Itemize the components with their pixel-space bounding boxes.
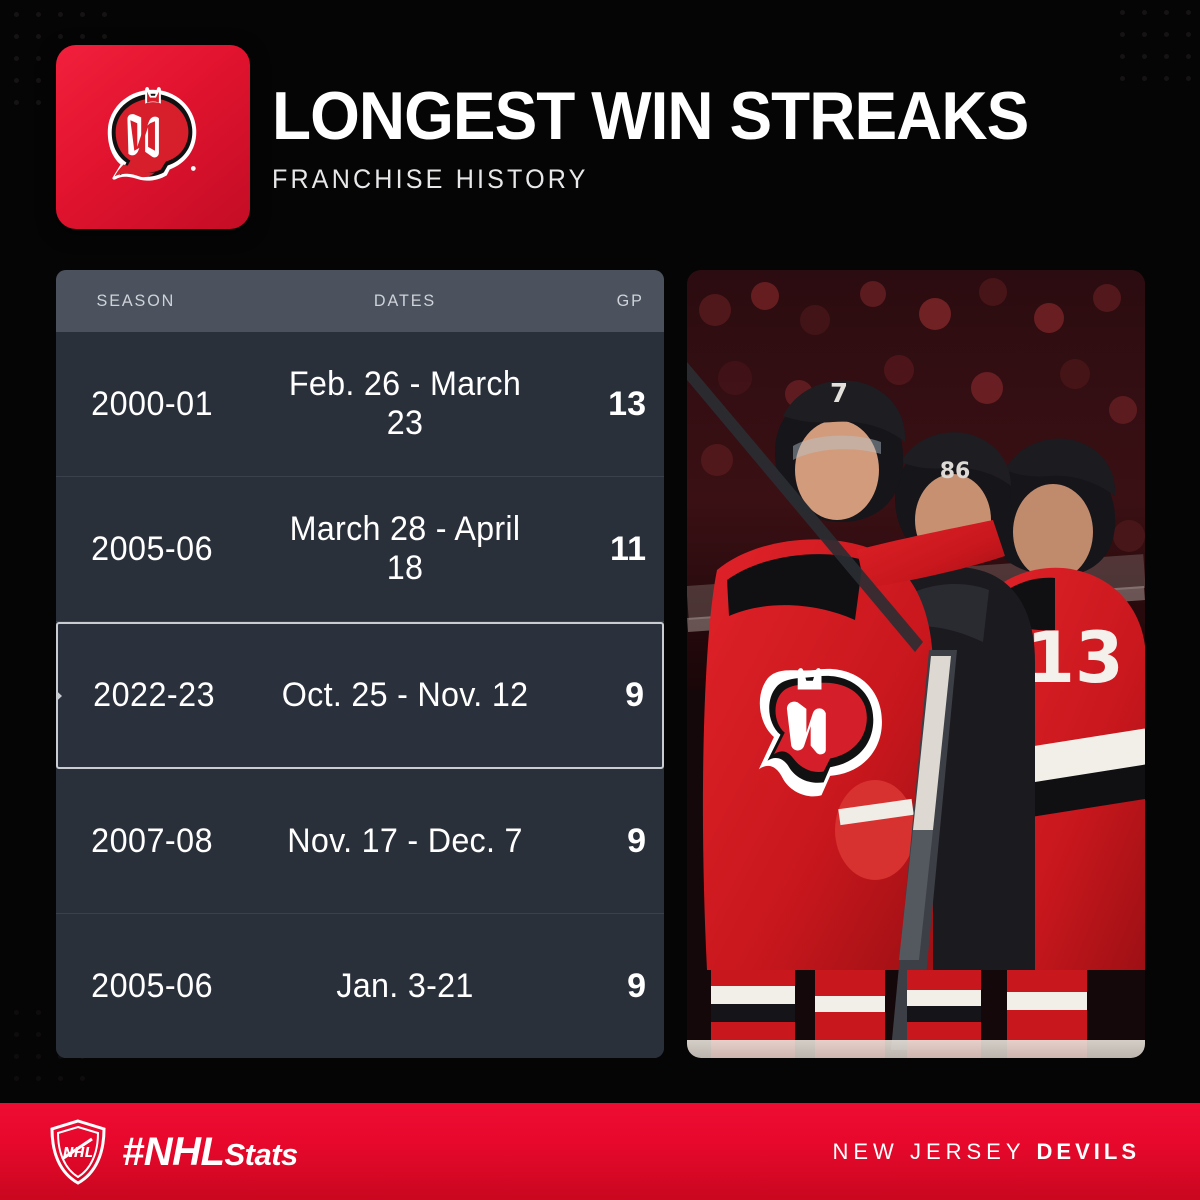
column-header-dates: DATES bbox=[278, 291, 533, 311]
table-row[interactable]: 2005-06 March 28 - April 18 11 bbox=[56, 477, 664, 622]
team-logo-badge bbox=[56, 45, 250, 229]
team-city-label: NEW JERSEY bbox=[833, 1139, 1026, 1165]
svg-text:NHL: NHL bbox=[63, 1146, 93, 1161]
cell-dates: Nov. 17 - Dec. 7 bbox=[278, 822, 533, 861]
table-body: 2000-01 Feb. 26 - March 23 13 2005-06 Ma… bbox=[56, 332, 664, 1058]
nhlstats-hashtag: #NHL bbox=[122, 1130, 224, 1174]
svg-text:7: 7 bbox=[830, 379, 848, 409]
cell-gp: 9 bbox=[539, 967, 664, 1006]
cell-season: 2007-08 bbox=[56, 822, 260, 861]
team-name-label: DEVILS bbox=[1037, 1139, 1140, 1165]
header-text-block: LONGEST WIN STREAKS FRANCHISE HISTORY bbox=[272, 82, 1077, 193]
column-header-season: SEASON bbox=[61, 291, 265, 311]
cell-gp: 13 bbox=[539, 385, 664, 424]
cell-season: 2022-23 bbox=[58, 676, 261, 715]
cell-dates: Feb. 26 - March 23 bbox=[278, 365, 533, 443]
cell-season: 2005-06 bbox=[56, 530, 260, 569]
cell-gp: 9 bbox=[538, 676, 662, 715]
table-row[interactable]: 2005-06 Jan. 3-21 9 bbox=[56, 914, 664, 1058]
cell-gp: 9 bbox=[539, 822, 664, 861]
footer-team-name: NEW JERSEY DEVILS bbox=[833, 1139, 1200, 1165]
table-header-row: SEASON DATES GP bbox=[56, 270, 664, 332]
infographic-root: LONGEST WIN STREAKS FRANCHISE HISTORY SE… bbox=[0, 0, 1200, 1200]
page-title: LONGEST WIN STREAKS bbox=[272, 82, 1028, 150]
cell-gp: 11 bbox=[539, 530, 664, 569]
page-subtitle: FRANCHISE HISTORY bbox=[272, 166, 1020, 193]
table-row-highlighted[interactable]: 2022-23 Oct. 25 - Nov. 12 9 bbox=[56, 622, 664, 769]
player-photo: 13 86 7 bbox=[687, 270, 1145, 1058]
devils-logo-icon bbox=[94, 78, 212, 196]
table-row[interactable]: 2000-01 Feb. 26 - March 23 13 bbox=[56, 332, 664, 477]
cell-dates: Jan. 3-21 bbox=[278, 967, 533, 1006]
table-row[interactable]: 2007-08 Nov. 17 - Dec. 7 9 bbox=[56, 769, 664, 914]
nhlstats-suffix: Stats bbox=[224, 1137, 297, 1172]
cell-season: 2000-01 bbox=[56, 385, 260, 424]
cell-dates: March 28 - April 18 bbox=[278, 510, 533, 588]
nhl-shield-icon: NHL bbox=[48, 1119, 108, 1185]
svg-text:86: 86 bbox=[940, 459, 971, 484]
corner-dot-grid-top-right bbox=[1120, 10, 1190, 80]
nhlstats-wordmark: #NHLStats bbox=[122, 1132, 298, 1172]
svg-text:13: 13 bbox=[1026, 617, 1123, 699]
footer-bar: NHL #NHLStats NEW JERSEY DEVILS bbox=[0, 1103, 1200, 1200]
player-photo-illustration: 13 86 7 bbox=[687, 270, 1145, 1058]
cell-season: 2005-06 bbox=[56, 967, 260, 1006]
streaks-table: SEASON DATES GP 2000-01 Feb. 26 - March … bbox=[56, 270, 664, 1058]
footer-brand: NHL #NHLStats bbox=[0, 1119, 298, 1185]
cell-dates: Oct. 25 - Nov. 12 bbox=[278, 676, 531, 715]
column-header-gp: GP bbox=[542, 291, 661, 311]
